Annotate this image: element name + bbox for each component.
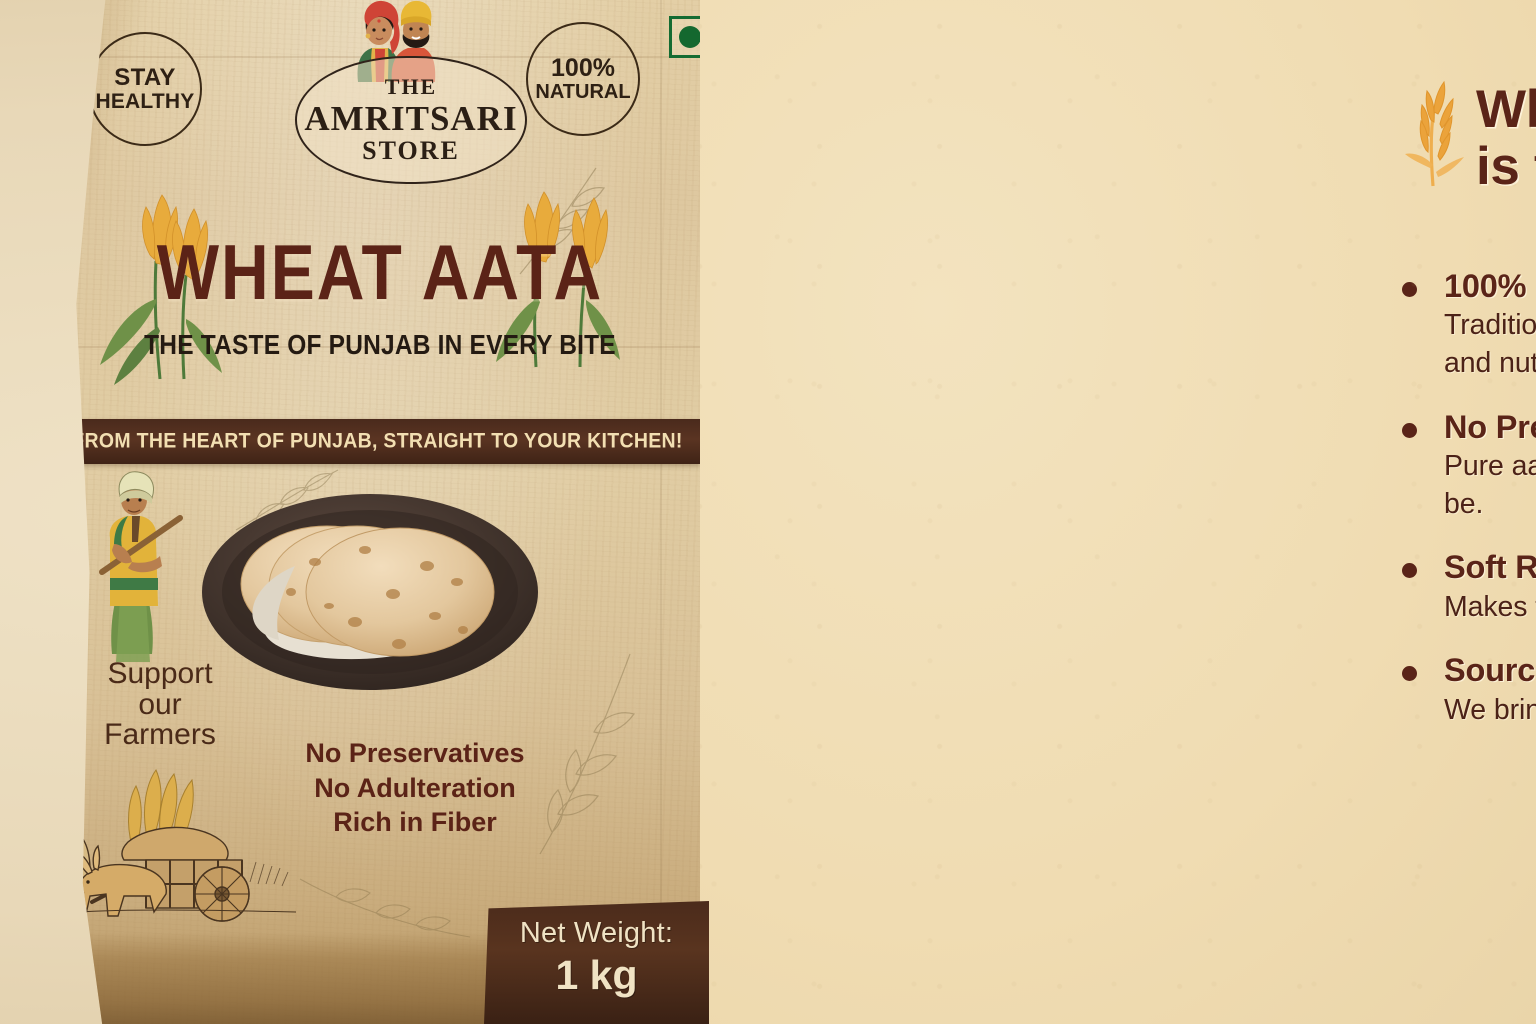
- leaf-sprig-icon: [290, 849, 480, 959]
- claim-item: No Adulteration: [270, 771, 560, 806]
- badge-line-2: HEALTHY: [95, 91, 194, 112]
- package-crease: [660, 0, 662, 1024]
- benefit-title: 100% Natural & Stone-Grounded: [1444, 268, 1536, 304]
- bullock-cart-illustration: [50, 762, 300, 922]
- product-title-block: WHEAT AATA THE TASTE OF PUNJAB IN EVERY …: [120, 234, 640, 360]
- wheat-stalk-icon: [1400, 68, 1470, 196]
- product-package: STAY HEALTHY 100% NATURAL: [40, 0, 700, 1024]
- bullet-icon: [1402, 423, 1417, 438]
- net-weight-box: Net Weight: 1 kg: [484, 901, 709, 1024]
- package-banner: FROM THE HEART OF PUNJAB, STRAIGHT TO YO…: [55, 419, 700, 464]
- logo-line-2: AMRITSARI: [304, 101, 517, 136]
- benefits-panel: Why Our Aata is the Best: 100% Natural &…: [678, 0, 1536, 1024]
- claim-item: No Preservatives: [270, 736, 560, 771]
- product-tagline: THE TASTE OF PUNJAB IN EVERY BITE: [120, 330, 640, 361]
- bullet-icon: [1402, 563, 1417, 578]
- net-weight-label: Net Weight:: [484, 917, 709, 950]
- banner-text: FROM THE HEART OF PUNJAB, STRAIGHT TO YO…: [72, 429, 682, 454]
- page-title: Why Our Aata is the Best:: [1476, 82, 1536, 195]
- stay-healthy-badge: STAY HEALTHY: [88, 32, 202, 146]
- net-weight-value: 1 kg: [484, 952, 709, 999]
- benefits-list: 100% Natural & Stone-Grounded Traditiona…: [1396, 268, 1536, 755]
- logo-line-3: STORE: [362, 138, 460, 164]
- list-item: Sourced Directly from Punjab’s Farms We …: [1396, 652, 1536, 729]
- list-item: Soft Rotis Every Time Makes fluffy, soft…: [1396, 549, 1536, 626]
- benefit-title: No Preservatives or Additives: [1444, 409, 1536, 445]
- headline-line-1: Why Our Aata: [1476, 82, 1536, 139]
- list-item: No Preservatives or Additives Pure aata …: [1396, 409, 1536, 524]
- support-line-3: Farmers: [70, 720, 250, 751]
- product-claims: No Preservatives No Adulteration Rich in…: [270, 736, 560, 840]
- headline-line-2: is the Best:: [1476, 139, 1536, 196]
- bullet-icon: [1402, 666, 1417, 681]
- list-item: 100% Natural & Stone-Grounded Traditiona…: [1396, 268, 1536, 383]
- badge-line-2: NATURAL: [535, 82, 630, 102]
- support-line-1: Support: [70, 659, 250, 690]
- logo-line-1: THE: [385, 76, 437, 98]
- benefit-description: Makes fluffy, soft rotis that stay fresh…: [1444, 589, 1536, 627]
- natural-badge: 100% NATURAL: [526, 22, 640, 136]
- badge-line-1: STAY: [114, 66, 176, 90]
- benefit-title: Soft Rotis Every Time: [1444, 549, 1536, 585]
- benefit-title: Sourced Directly from Punjab’s Farms: [1444, 652, 1536, 688]
- benefit-description: Traditional chakki grinding keeps the na…: [1444, 307, 1536, 382]
- bullet-icon: [1402, 282, 1417, 297]
- badge-line-1: 100%: [551, 56, 615, 82]
- infographic-canvas: Why Our Aata is the Best: 100% Natural &…: [0, 0, 1536, 1024]
- support-line-2: our: [70, 690, 250, 721]
- claim-item: Rich in Fiber: [270, 805, 560, 840]
- brand-logo: THE AMRITSARI STORE: [295, 56, 527, 184]
- benefit-description: Pure aata with zero chemicals or mixing,…: [1444, 448, 1536, 523]
- support-farmers-text: Support our Farmers: [70, 659, 250, 751]
- farmer-illustration: [70, 466, 200, 666]
- product-title: WHEAT AATA: [120, 227, 640, 317]
- benefit-description: We bring you wheat grown with love by ou…: [1444, 692, 1536, 730]
